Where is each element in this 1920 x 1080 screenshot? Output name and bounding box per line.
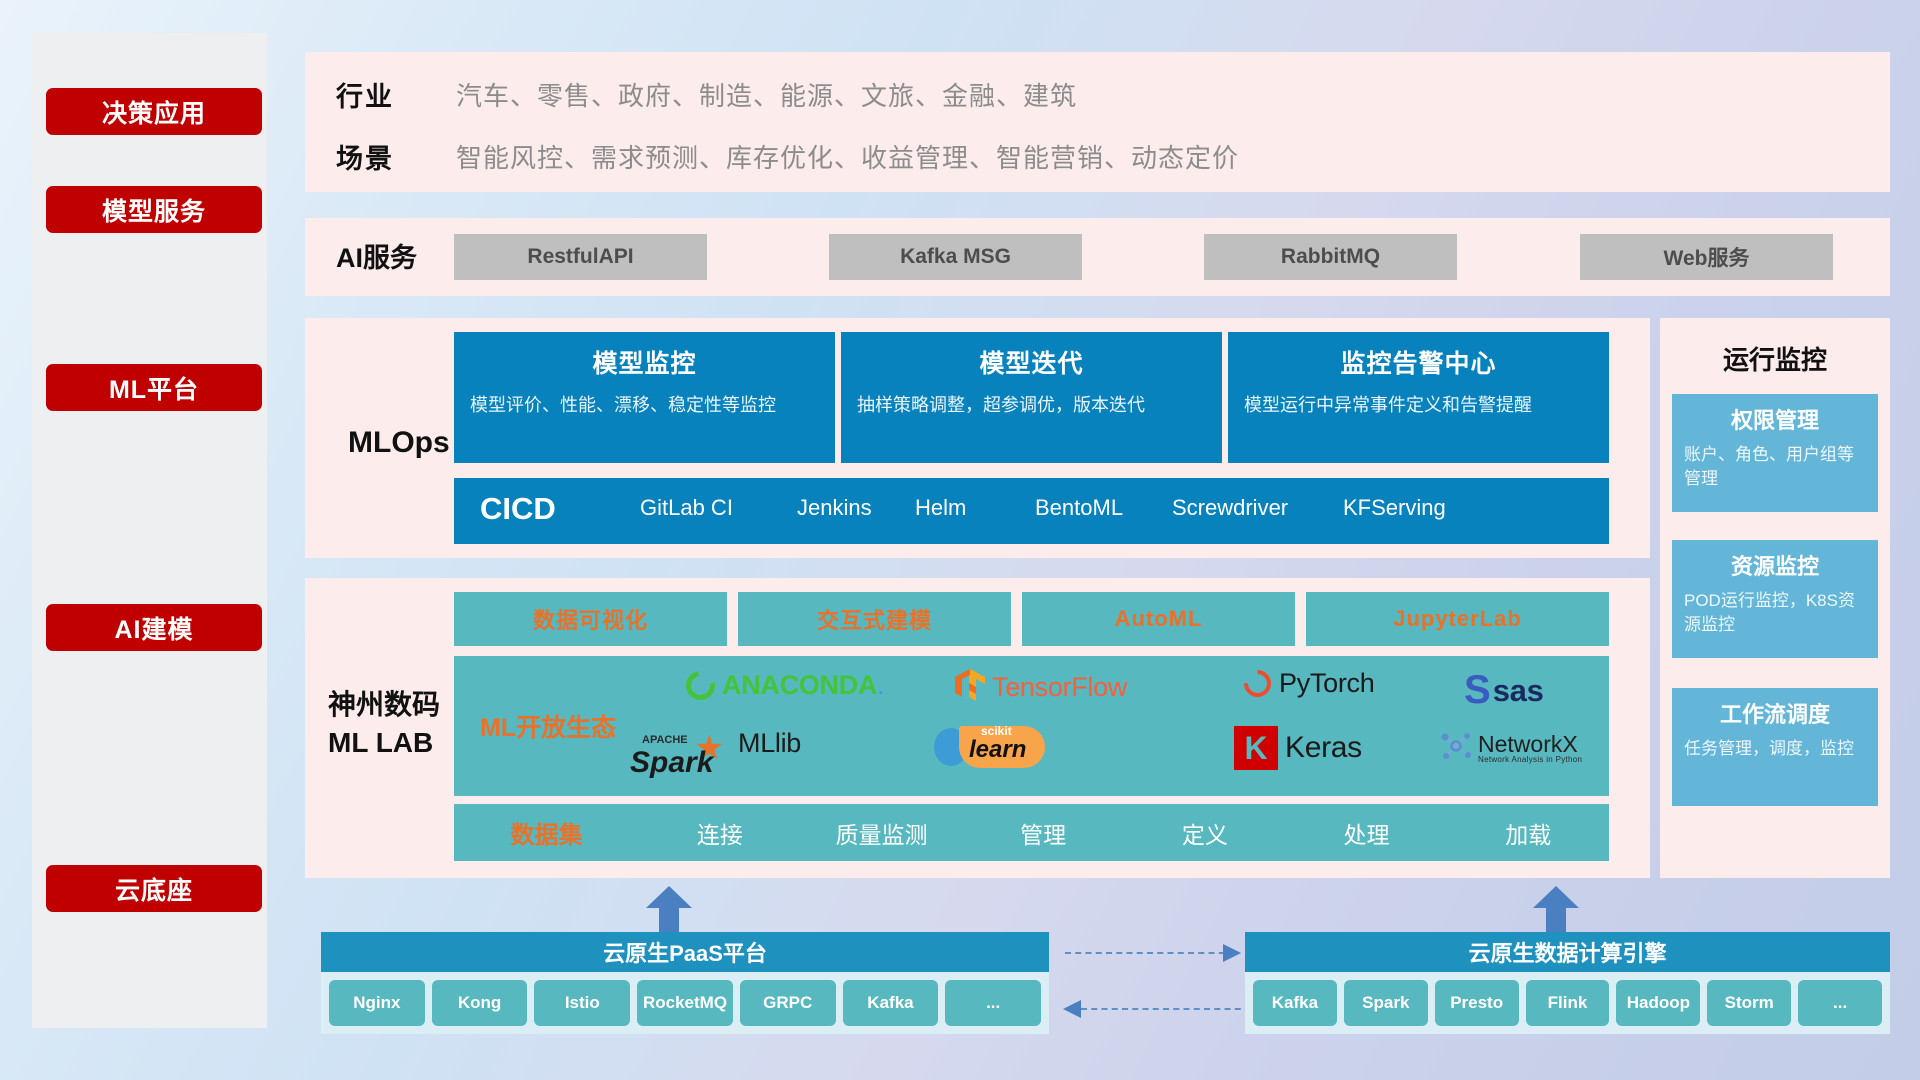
cicd-bar: CICD GitLab CI Jenkins Helm BentoML Scre… — [454, 478, 1609, 544]
cicd-item-bentoml[interactable]: BentoML — [1035, 493, 1145, 523]
connector-arrow-left-icon — [1063, 1000, 1083, 1018]
mlops-card-title: 模型监控 — [470, 344, 819, 380]
engine-chip-more[interactable]: ... — [1798, 980, 1882, 1026]
monitor-card-permission[interactable]: 权限管理 账户、角色、用户组等管理 — [1672, 394, 1878, 512]
cicd-item-helm[interactable]: Helm — [915, 493, 1025, 523]
connector-arrow-right-icon — [1223, 944, 1243, 962]
pytorch-label: PyTorch — [1279, 668, 1374, 699]
architecture-diagram: 决策应用 模型服务 ML平台 AI建模 云底座 行业 汽车、零售、政府、制造、能… — [0, 0, 1920, 1080]
spark-mllib-logo: ★ APACHE Spark MLlib — [686, 728, 801, 759]
tensorflow-label: TensorFlow — [992, 672, 1127, 703]
paas-chip-row: Nginx Kong Istio RocketMQ GRPC Kafka ... — [321, 972, 1049, 1034]
engine-chip-row: Kafka Spark Presto Flink Hadoop Storm ..… — [1245, 972, 1890, 1034]
engine-chip-presto[interactable]: Presto — [1435, 980, 1519, 1026]
mlops-card-alert-center[interactable]: 监控告警中心 模型运行中异常事件定义和告警提醒 — [1228, 332, 1609, 463]
ai-modeling-band: 神州数码 ML LAB 数据可视化 交互式建模 AutoML JupyterLa… — [305, 578, 1650, 878]
monitor-card-title: 权限管理 — [1684, 403, 1866, 435]
layer-tag-label: 决策应用 — [102, 94, 206, 130]
engine-chip-spark[interactable]: Spark — [1344, 980, 1428, 1026]
paas-chip-grpc[interactable]: GRPC — [740, 980, 836, 1026]
engine-group: 云原生数据计算引擎 Kafka Spark Presto Flink Hadoo… — [1245, 886, 1890, 1041]
engine-chip-flink[interactable]: Flink — [1526, 980, 1610, 1026]
cicd-title: CICD — [480, 491, 556, 527]
mlops-card-model-monitoring[interactable]: 模型监控 模型评价、性能、漂移、稳定性等监控 — [454, 332, 835, 463]
monitoring-band: 运行监控 权限管理 账户、角色、用户组等管理 资源监控 POD运行监控，K8S资… — [1660, 318, 1890, 878]
scenario-key: 场景 — [336, 137, 456, 176]
anaconda-ring-icon — [680, 665, 720, 705]
engine-chip-hadoop[interactable]: Hadoop — [1616, 980, 1700, 1026]
dataset-item-load[interactable]: 加载 — [1447, 816, 1609, 850]
anaconda-label: ANACONDA — [722, 670, 877, 701]
paas-group: 云原生PaaS平台 Nginx Kong Istio RocketMQ GRPC… — [321, 886, 1049, 1041]
tool-tab-automl[interactable]: AutoML — [1022, 592, 1295, 646]
monitor-card-desc: 任务管理，调度，监控 — [1684, 737, 1866, 761]
paas-chip-rocketmq[interactable]: RocketMQ — [637, 980, 733, 1026]
dataset-item-define[interactable]: 定义 — [1124, 816, 1286, 850]
layer-tag-model-service[interactable]: 模型服务 — [46, 186, 262, 233]
engine-chip-storm[interactable]: Storm — [1707, 980, 1791, 1026]
monitor-card-workflow[interactable]: 工作流调度 任务管理，调度，监控 — [1672, 688, 1878, 806]
anaconda-logo: ANACONDA . — [686, 670, 885, 701]
ai-service-label: AI服务 — [336, 241, 417, 276]
mlops-card-title: 模型迭代 — [857, 344, 1206, 380]
pytorch-logo: PyTorch — [1244, 668, 1374, 699]
mlops-band: MLOps 模型监控 模型评价、性能、漂移、稳定性等监控 模型迭代 抽样策略调整… — [305, 318, 1650, 558]
connector-engine-to-paas — [1081, 1008, 1251, 1010]
service-chip-restfulapi[interactable]: RestfulAPI — [454, 234, 707, 280]
layer-tag-ai-modeling[interactable]: AI建模 — [46, 604, 262, 651]
mlops-card-desc: 模型运行中异常事件定义和告警提醒 — [1244, 393, 1593, 419]
layer-tag-label: ML平台 — [109, 370, 199, 406]
ml-lab-label-line2: ML LAB — [328, 727, 433, 758]
layer-tag-label: 云底座 — [115, 871, 193, 907]
layer-tag-label: AI建模 — [114, 610, 193, 646]
decision-application-band: 行业 汽车、零售、政府、制造、能源、文旅、金融、建筑 场景 智能风控、需求预测、… — [305, 52, 1890, 192]
service-chip-rabbitmq[interactable]: RabbitMQ — [1204, 234, 1457, 280]
paas-chip-kafka[interactable]: Kafka — [843, 980, 939, 1026]
dataset-title: 数据集 — [454, 815, 639, 850]
tensorflow-mark-icon — [954, 668, 986, 707]
engine-chip-kafka[interactable]: Kafka — [1253, 980, 1337, 1026]
dataset-bar: 数据集 连接 质量监测 管理 定义 处理 加载 — [454, 804, 1609, 861]
networkx-subtitle: Network Analysis in Python — [1478, 756, 1582, 764]
connector-paas-to-engine — [1065, 952, 1235, 954]
tensorflow-logo: TensorFlow — [954, 668, 1127, 707]
keras-mark-label: K — [1244, 730, 1267, 767]
scikit-bottom-label: learn — [969, 736, 1026, 764]
ml-ecosystem-title: ML开放生态 — [480, 708, 616, 744]
mlops-card-desc: 抽样策略调整，超参调优，版本迭代 — [857, 393, 1206, 419]
monitor-card-desc: 账户、角色、用户组等管理 — [1684, 443, 1866, 491]
paas-chip-more[interactable]: ... — [945, 980, 1041, 1026]
dataset-item-process[interactable]: 处理 — [1286, 816, 1448, 850]
sas-label: sas — [1493, 673, 1544, 709]
service-chip-kafka-msg[interactable]: Kafka MSG — [829, 234, 1082, 280]
tool-tab-jupyterlab[interactable]: JupyterLab — [1306, 592, 1609, 646]
industry-row: 行业 汽车、零售、政府、制造、能源、文旅、金融、建筑 — [336, 75, 1077, 114]
monitor-card-title: 资源监控 — [1684, 549, 1866, 581]
spark-apache-label: APACHE — [642, 734, 688, 746]
industry-key: 行业 — [336, 75, 456, 114]
layer-rail: 决策应用 模型服务 ML平台 AI建模 云底座 — [32, 33, 267, 1028]
cicd-item-kfserving[interactable]: KFServing — [1343, 493, 1453, 523]
monitoring-title: 运行监控 — [1660, 340, 1890, 377]
networkx-label: NetworkX — [1478, 733, 1582, 756]
networkx-logo: NetworkX Network Analysis in Python — [1439, 730, 1582, 767]
layer-tag-cloud-base[interactable]: 云底座 — [46, 865, 262, 912]
mlops-card-model-iteration[interactable]: 模型迭代 抽样策略调整，超参调优，版本迭代 — [841, 332, 1222, 463]
dataset-item-quality[interactable]: 质量监测 — [801, 816, 963, 850]
ml-lab-label-line1: 神州数码 — [328, 689, 440, 720]
service-chip-web-service[interactable]: Web服务 — [1580, 234, 1833, 280]
pytorch-flame-icon — [1238, 664, 1276, 702]
monitor-card-title: 工作流调度 — [1684, 697, 1866, 729]
monitor-card-desc: POD运行监控，K8S资源监控 — [1684, 589, 1866, 637]
monitor-card-resource[interactable]: 资源监控 POD运行监控，K8S资源监控 — [1672, 540, 1878, 658]
scikit-learn-logo: scikit learn — [934, 726, 1045, 768]
paas-chip-istio[interactable]: Istio — [534, 980, 630, 1026]
dataset-item-connect[interactable]: 连接 — [639, 816, 801, 850]
cicd-item-screwdriver[interactable]: Screwdriver — [1172, 493, 1282, 523]
spark-label: Spark — [630, 746, 713, 780]
ai-service-band: AI服务 RestfulAPI Kafka MSG RabbitMQ Web服务 — [305, 218, 1890, 296]
paas-chip-nginx[interactable]: Nginx — [329, 980, 425, 1026]
mlops-label: MLOps — [348, 423, 450, 462]
networkx-graph-icon — [1439, 730, 1473, 767]
paas-header: 云原生PaaS平台 — [321, 932, 1049, 972]
industry-value: 汽车、零售、政府、制造、能源、文旅、金融、建筑 — [456, 76, 1077, 113]
paas-chip-kong[interactable]: Kong — [432, 980, 528, 1026]
anaconda-dot: . — [877, 670, 885, 701]
scikit-orange-shape: scikit learn — [959, 726, 1045, 768]
engine-header: 云原生数据计算引擎 — [1245, 932, 1890, 972]
keras-k-icon: K — [1234, 726, 1278, 770]
cicd-item-jenkins[interactable]: Jenkins — [797, 493, 907, 523]
ml-lab-label: 神州数码 ML LAB — [328, 686, 440, 762]
layer-tag-ml-platform[interactable]: ML平台 — [46, 364, 262, 411]
ml-ecosystem-box: ML开放生态 ANACONDA . T — [454, 656, 1609, 796]
mlops-card-desc: 模型评价、性能、漂移、稳定性等监控 — [470, 393, 819, 419]
keras-label: Keras — [1285, 731, 1362, 765]
tool-tab-interactive-modeling[interactable]: 交互式建模 — [738, 592, 1011, 646]
paas-up-arrow-icon — [646, 886, 692, 934]
sas-s-icon: S — [1464, 668, 1491, 713]
scenario-value: 智能风控、需求预测、库存优化、收益管理、智能营销、动态定价 — [456, 138, 1239, 175]
keras-logo: K Keras — [1234, 726, 1362, 770]
engine-up-arrow-icon — [1533, 886, 1579, 934]
tool-tab-data-visualization[interactable]: 数据可视化 — [454, 592, 727, 646]
mlops-card-title: 监控告警中心 — [1244, 344, 1593, 380]
sas-logo: S sas — [1464, 668, 1544, 713]
cicd-item-gitlab-ci[interactable]: GitLab CI — [640, 493, 750, 523]
layer-tag-decision-application[interactable]: 决策应用 — [46, 88, 262, 135]
dataset-item-manage[interactable]: 管理 — [962, 816, 1124, 850]
mllib-label: MLlib — [738, 728, 801, 759]
scenario-row: 场景 智能风控、需求预测、库存优化、收益管理、智能营销、动态定价 — [336, 137, 1239, 176]
layer-tag-label: 模型服务 — [102, 192, 206, 228]
